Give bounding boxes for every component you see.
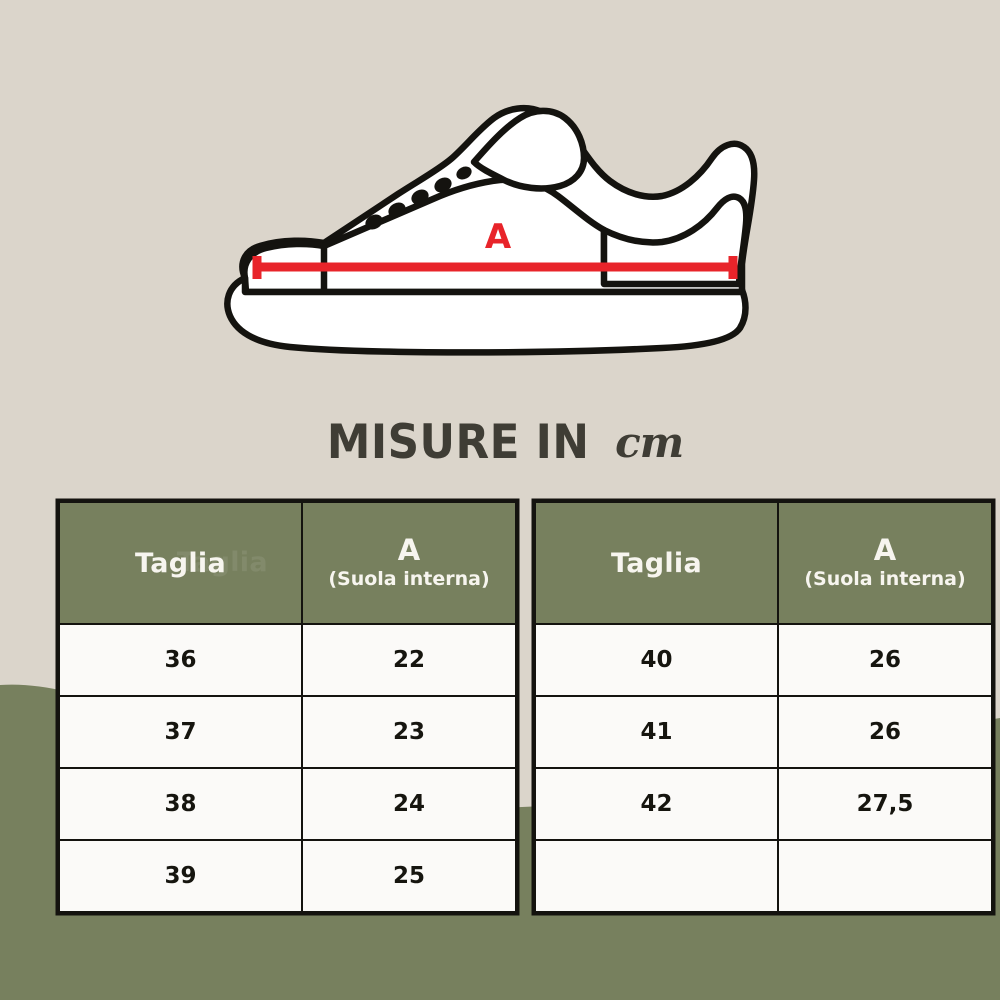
shoe-outsole — [227, 278, 745, 352]
cell-measure: 24 — [302, 768, 516, 840]
column-header-measure-sublabel: (Suola interna) — [309, 568, 509, 592]
cell-size — [535, 840, 778, 912]
cell-measure: 23 — [302, 696, 516, 768]
column-header-measure: A (Suola interna) — [778, 502, 992, 624]
cell-size: 36 — [59, 624, 302, 696]
column-header-measure-letter: A — [785, 534, 985, 566]
column-header-size-label: Taglia — [611, 548, 702, 579]
column-header-size: Taglia — [535, 502, 778, 624]
table-header-row: Taglia Taglia A (Suola interna) — [59, 502, 516, 624]
table-row: 41 26 — [535, 696, 992, 768]
column-header-measure-sublabel: (Suola interna) — [785, 568, 985, 592]
size-tables-container: Taglia Taglia A (Suola interna) 36 22 37 — [58, 501, 990, 913]
sneaker-illustration: A — [212, 96, 772, 358]
cell-measure — [778, 840, 992, 912]
size-chart-canvas: A MISURE IN cm Taglia Taglia A (Suola in… — [0, 0, 1000, 1000]
table-row: 38 24 — [59, 768, 516, 840]
table-row: 40 26 — [535, 624, 992, 696]
cell-measure: 25 — [302, 840, 516, 912]
cell-size: 37 — [59, 696, 302, 768]
title-main-text: MISURE IN — [327, 415, 590, 470]
cell-measure: 26 — [778, 624, 992, 696]
table-row: 36 22 — [59, 624, 516, 696]
table-row: 37 23 — [59, 696, 516, 768]
measurement-label-a: A — [485, 217, 512, 257]
cell-size: 39 — [59, 840, 302, 912]
title-unit-text: cm — [615, 418, 683, 467]
cell-measure: 22 — [302, 624, 516, 696]
cell-size: 41 — [535, 696, 778, 768]
size-table-left: Taglia Taglia A (Suola interna) 36 22 37 — [58, 501, 517, 913]
table-header-row: Taglia A (Suola interna) — [535, 502, 992, 624]
cell-size: 42 — [535, 768, 778, 840]
column-header-measure: A (Suola interna) — [302, 502, 516, 624]
column-header-measure-letter: A — [309, 534, 509, 566]
cell-size: 40 — [535, 624, 778, 696]
column-header-size: Taglia Taglia — [59, 502, 302, 624]
table-row: 39 25 — [59, 840, 516, 912]
table-row: 42 27,5 — [535, 768, 992, 840]
table-row — [535, 840, 992, 912]
size-table-right: Taglia A (Suola interna) 40 26 41 26 — [534, 501, 993, 913]
cell-measure: 27,5 — [778, 768, 992, 840]
cell-size: 38 — [59, 768, 302, 840]
cell-measure: 26 — [778, 696, 992, 768]
page-title: MISURE IN cm — [0, 406, 1000, 478]
column-header-size-label: Taglia — [135, 548, 226, 579]
